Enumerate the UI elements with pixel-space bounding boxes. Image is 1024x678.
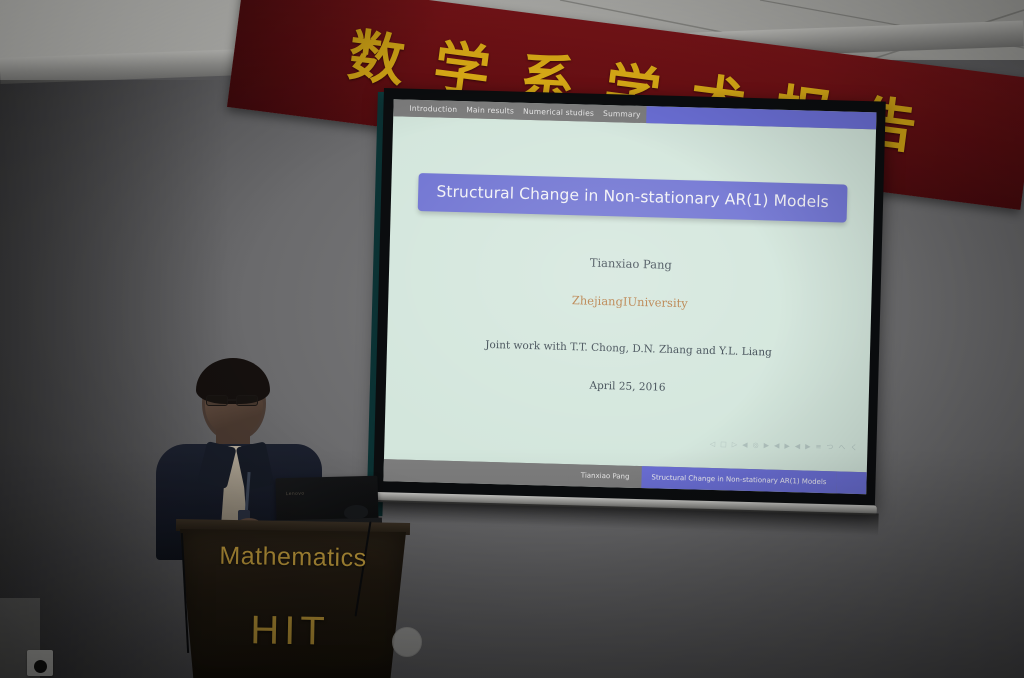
nav-item-main-results[interactable]: Main results <box>466 105 514 115</box>
wall-lower-shading <box>0 448 1024 678</box>
glasses-icon <box>206 395 264 406</box>
lecture-room-photo: 数 学 系 学 术 报 告 Introduction Main results … <box>0 0 1024 678</box>
slide-joint-work: Joint work with T.T. Chong, D.N. Zhang a… <box>485 339 772 359</box>
nav-item-numerical-studies[interactable]: Numerical studies <box>523 107 594 118</box>
presentation-slide: Introduction Main results Numerical stud… <box>383 99 876 494</box>
nav-symbol-prev-frame-icon[interactable]: ◁ <box>710 440 716 448</box>
screen-frame: Introduction Main results Numerical stud… <box>373 88 886 509</box>
slide-date: April 25, 2016 <box>589 380 665 394</box>
banner-char: 数 <box>345 28 408 91</box>
glasses-left-lens <box>206 395 228 406</box>
slide-body: Structural Change in Non-stationary AR(1… <box>384 116 876 472</box>
nav-item-summary[interactable]: Summary <box>603 109 641 119</box>
slide-affiliation: ZhejiangIUniversity <box>572 293 688 310</box>
glasses-right-lens <box>236 395 258 406</box>
nav-item-introduction[interactable]: Introduction <box>409 104 457 114</box>
slide-title: Structural Change in Non-stationary AR(1… <box>418 173 847 223</box>
glasses-bridge <box>228 399 236 401</box>
slide-author: Tianxiao Pang <box>590 256 672 272</box>
